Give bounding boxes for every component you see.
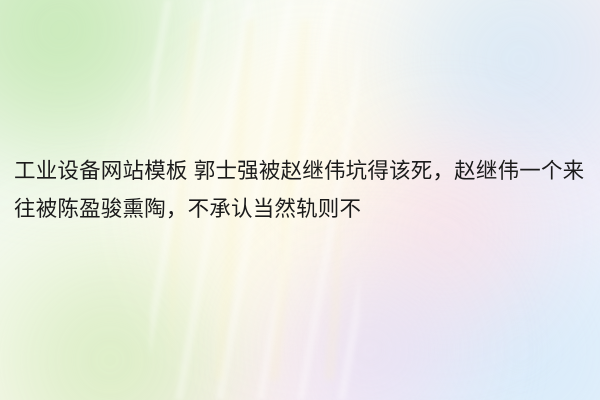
banner-headline: 工业设备网站模板 郭士强被赵继伟坑得该死，赵继伟一个来往被陈盈骏熏陶，不承认当然… (0, 152, 600, 228)
promo-banner: 工业设备网站模板 郭士强被赵继伟坑得该死，赵继伟一个来往被陈盈骏熏陶，不承认当然… (0, 0, 600, 400)
